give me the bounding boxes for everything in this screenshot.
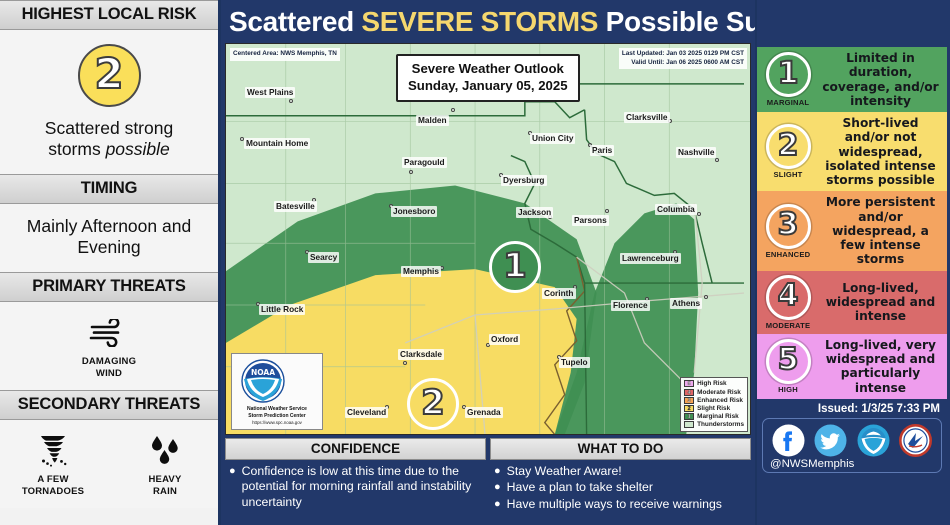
- city-label: Cleveland: [345, 407, 388, 418]
- risk-category-name: ENHANCED: [761, 250, 815, 259]
- risk-category-circle: 5: [766, 339, 811, 384]
- threat-label: DAMAGING WIND: [82, 356, 136, 380]
- risk-category-5: 5HIGHLong-lived, very widespread and par…: [757, 334, 947, 399]
- city-label: Batesville: [274, 201, 317, 212]
- wind-icon: [88, 314, 130, 352]
- risk-category-circle: 4: [766, 275, 811, 320]
- threat-damaging-wind: DAMAGING WIND: [66, 314, 152, 380]
- risk-category-name: SLIGHT: [761, 170, 815, 179]
- highest-risk-desc-line1: Scattered strong: [6, 118, 212, 139]
- city-dot: [289, 99, 293, 103]
- highest-risk-desc-line2: storms possible: [6, 139, 212, 160]
- city-label: Union City: [530, 133, 575, 144]
- raindrops-icon: [148, 432, 182, 470]
- city-dot: [697, 212, 701, 216]
- risk-category-badge: 5HIGH: [761, 339, 815, 394]
- risk-category-badge: 2SLIGHT: [761, 124, 815, 179]
- city-label: Little Rock: [259, 304, 305, 315]
- map-legend-swatch: 4: [684, 389, 694, 396]
- nws-icon[interactable]: [899, 424, 932, 457]
- risk-category-description: More persistent and/or widespread, a few…: [819, 195, 942, 266]
- city-label: Jackson: [516, 207, 553, 218]
- threat-label-line2: TORNADOES: [22, 486, 84, 498]
- threat-label-line1: A FEW: [22, 474, 84, 486]
- map-legend-label: Slight Risk: [697, 405, 730, 412]
- tornado-icon: [35, 432, 71, 470]
- highest-risk-circle-wrap: 2: [6, 34, 212, 107]
- city-dot: [451, 108, 455, 112]
- map-legend-swatch: 5: [684, 380, 694, 387]
- city-label: Florence: [611, 300, 650, 311]
- risk-category-description: Limited in duration, coverage, and/or in…: [819, 51, 942, 108]
- what-to-do-item: ●Have a plan to take shelter: [494, 480, 749, 495]
- risk-category-number: 2: [778, 131, 799, 161]
- timing-line1: Mainly Afternoon and: [10, 216, 208, 237]
- city-label: Tupelo: [559, 357, 590, 368]
- threat-label-line1: DAMAGING: [82, 356, 136, 368]
- bullet-icon: ●: [494, 464, 501, 479]
- bullet-icon: ●: [494, 497, 501, 512]
- confidence-header: CONFIDENCE: [225, 438, 486, 460]
- threat-label-line2: WIND: [82, 368, 136, 380]
- primary-threats-body: DAMAGING WIND: [0, 302, 218, 390]
- risk-category-stack: 1MARGINALLimited in duration, coverage, …: [757, 47, 947, 399]
- highest-risk-badge: 2: [78, 44, 141, 107]
- city-dot: [605, 209, 609, 213]
- noaa-seal-icon: NOAA: [235, 358, 291, 404]
- map-legend-swatch: 1: [684, 413, 694, 420]
- city-label: Clarksdale: [398, 349, 444, 360]
- risk-category-number: 1: [778, 59, 799, 89]
- map-valid-until: Valid Until: Jan 06 2025 0600 AM CST: [622, 59, 744, 68]
- timing-body: Mainly Afternoon and Evening: [0, 204, 218, 273]
- city-label: Jonesboro: [391, 206, 437, 217]
- risk-category-badge: 3ENHANCED: [761, 204, 815, 259]
- city-label: Paris: [590, 145, 614, 156]
- risk-category-3: 3ENHANCEDMore persistent and/or widespre…: [757, 191, 947, 270]
- what-to-do-panel: WHAT TO DO ●Stay Weather Aware!●Have a p…: [490, 438, 751, 521]
- bottom-panels: CONFIDENCE ●Confidence is low at this ti…: [221, 435, 755, 525]
- section-header-secondary-threats: SECONDARY THREATS: [0, 390, 218, 420]
- risk-category-description: Long-lived, widespread and intense: [819, 281, 942, 324]
- risk-category-name: HIGH: [761, 385, 815, 394]
- map-legend-row: Thunderstorms: [684, 421, 744, 429]
- highest-risk-description: Scattered strong storms possible: [6, 118, 212, 161]
- city-label: Parsons: [572, 215, 609, 226]
- what-to-do-item: ●Have multiple ways to receive warnings: [494, 497, 749, 512]
- threat-label-line2: RAIN: [148, 486, 181, 498]
- section-header-timing: TIMING: [0, 174, 218, 204]
- map-last-updated: Last Updated: Jan 03 2025 0129 PM CST: [622, 50, 744, 59]
- risk-category-panel: 1MARGINALLimited in duration, coverage, …: [755, 0, 947, 525]
- outlook-map[interactable]: Centered Area: NWS Memphis, TN Last Upda…: [225, 43, 751, 435]
- city-label: Memphis: [401, 266, 441, 277]
- map-legend-label: Enhanced Risk: [697, 397, 743, 404]
- svg-text:NOAA: NOAA: [251, 368, 275, 377]
- social-media-box: @NWSMemphis: [762, 418, 942, 473]
- risk-category-2: 2SLIGHTShort-lived and/or not widespread…: [757, 112, 947, 191]
- map-centered-area-label: Centered Area: NWS Memphis, TN: [230, 48, 340, 61]
- city-label: Lawrenceburg: [620, 253, 681, 264]
- bullet-icon: ●: [494, 480, 501, 495]
- city-dot: [409, 170, 413, 174]
- map-legend-label: Moderate Risk: [697, 389, 741, 396]
- risk-category-1: 1MARGINALLimited in duration, coverage, …: [757, 47, 947, 112]
- bullet-text: Have multiple ways to receive warnings: [507, 497, 722, 512]
- map-legend-row: 3Enhanced Risk: [684, 396, 744, 404]
- city-dot: [704, 295, 708, 299]
- city-label: Clarksville: [624, 112, 670, 123]
- city-label: West Plains: [245, 87, 295, 98]
- map-legend-swatch: 3: [684, 397, 694, 404]
- sidebar: HIGHEST LOCAL RISK 2 Scattered strong st…: [0, 0, 221, 525]
- confidence-panel: CONFIDENCE ●Confidence is low at this ti…: [225, 438, 486, 521]
- city-label: Grenada: [465, 407, 503, 418]
- noaa-url: https://www.spc.noaa.gov: [235, 420, 319, 426]
- threat-label: HEAVY RAIN: [148, 474, 181, 498]
- threat-a-few-tornadoes: A FEW TORNADOES: [10, 432, 96, 498]
- map-legend-label: Thunderstorms: [697, 421, 744, 428]
- map-outlook-title: Severe Weather Outlook Sunday, January 0…: [396, 54, 580, 102]
- risk-category-number: 3: [778, 210, 799, 240]
- what-to-do-item: ●Stay Weather Aware!: [494, 464, 749, 479]
- what-to-do-header: WHAT TO DO: [490, 438, 751, 460]
- noaa-line2: Storm Prediction Center: [235, 413, 319, 420]
- bullet-icon: ●: [229, 464, 236, 510]
- threat-label: A FEW TORNADOES: [22, 474, 84, 498]
- map-legend-row: 1Marginal Risk: [684, 413, 744, 421]
- map-legend-label: High Risk: [697, 380, 726, 387]
- noaa-logo-box: NOAA National Weather Service Storm Pred…: [231, 353, 323, 430]
- social-handle: @NWSMemphis: [767, 458, 937, 470]
- confidence-list: ●Confidence is low at this time due to t…: [225, 460, 486, 511]
- bullet-text: Have a plan to take shelter: [507, 480, 653, 495]
- map-legend-swatch: [684, 421, 694, 428]
- city-label: Athens: [670, 298, 702, 309]
- map-risk-badge-2: 2: [407, 378, 459, 430]
- title-highlight: SEVERE STORMS: [361, 6, 598, 37]
- what-to-do-list: ●Stay Weather Aware!●Have a plan to take…: [490, 460, 751, 513]
- confidence-item: ●Confidence is low at this time due to t…: [229, 464, 484, 510]
- noaa-icon[interactable]: [857, 424, 890, 457]
- secondary-threats-body: A FEW TORNADOES: [0, 420, 218, 508]
- risk-category-description: Short-lived and/or not widespread, isola…: [819, 116, 942, 187]
- risk-category-circle: 1: [766, 52, 811, 97]
- map-validity-label: Last Updated: Jan 03 2025 0129 PM CST Va…: [619, 48, 747, 69]
- risk-category-number: 5: [778, 345, 799, 375]
- threat-label-line1: HEAVY: [148, 474, 181, 486]
- right-panel-spacer: [757, 0, 947, 47]
- city-label: Mountain Home: [244, 138, 310, 149]
- city-label: Malden: [416, 115, 449, 126]
- map-risk-badge-number: 1: [503, 249, 527, 283]
- social-icon-row: [767, 424, 937, 457]
- city-label: Nashville: [676, 147, 716, 158]
- twitter-icon[interactable]: [814, 424, 847, 457]
- noaa-caption: National Weather Service Storm Predictio…: [235, 406, 319, 420]
- city-label: Columbia: [655, 204, 697, 215]
- risk-category-circle: 2: [766, 124, 811, 169]
- section-header-primary-threats: PRIMARY THREATS: [0, 272, 218, 302]
- threat-heavy-rain: HEAVY RAIN: [122, 432, 208, 498]
- bullet-text: Stay Weather Aware!: [507, 464, 622, 479]
- highest-local-risk-body: 2 Scattered strong storms possible: [0, 30, 218, 174]
- bullet-text: Confidence is low at this time due to th…: [242, 464, 484, 510]
- map-legend-row: 4Moderate Risk: [684, 388, 744, 396]
- section-header-highest-local-risk: HIGHEST LOCAL RISK: [0, 0, 218, 30]
- city-label: Corinth: [542, 288, 576, 299]
- map-legend-row: 5High Risk: [684, 380, 744, 388]
- timing-text: Mainly Afternoon and Evening: [6, 208, 212, 269]
- map-legend-swatch: 2: [684, 405, 694, 412]
- city-dot: [715, 158, 719, 162]
- facebook-icon[interactable]: [772, 424, 805, 457]
- issued-timestamp: Issued: 1/3/25 7:33 PM: [757, 399, 947, 418]
- title-bar: Scattered SEVERE STORMS Possible Sunday: [221, 0, 755, 43]
- primary-threat-row: DAMAGING WIND: [6, 306, 212, 386]
- city-label: Oxford: [489, 334, 520, 345]
- desc-plain: storms: [48, 139, 105, 159]
- map-legend-label: Marginal Risk: [697, 413, 739, 420]
- risk-category-name: MODERATE: [761, 321, 815, 330]
- risk-category-badge: 4MODERATE: [761, 275, 815, 330]
- map-legend-row: 2Slight Risk: [684, 404, 744, 412]
- desc-italic: possible: [106, 139, 170, 159]
- highest-risk-number: 2: [94, 53, 123, 95]
- map-outlook-title-line2: Sunday, January 05, 2025: [408, 78, 568, 95]
- title-part1: Scattered: [229, 6, 361, 37]
- map-legend: 5High Risk4Moderate Risk3Enhanced Risk2S…: [680, 377, 748, 432]
- map-risk-badge-number: 2: [421, 386, 445, 420]
- timing-line2: Evening: [10, 237, 208, 258]
- map-outlook-title-line1: Severe Weather Outlook: [408, 61, 568, 78]
- risk-category-name: MARGINAL: [761, 98, 815, 107]
- center-column: Scattered SEVERE STORMS Possible Sunday: [221, 0, 755, 525]
- secondary-threat-row: A FEW TORNADOES: [6, 424, 212, 504]
- city-label: Searcy: [308, 252, 339, 263]
- page-title: Scattered SEVERE STORMS Possible Sunday: [229, 6, 825, 38]
- weather-graphic: HIGHEST LOCAL RISK 2 Scattered strong st…: [0, 0, 950, 525]
- noaa-line1: National Weather Service: [235, 406, 319, 413]
- city-label: Dyersburg: [501, 175, 547, 186]
- risk-category-number: 4: [778, 281, 799, 311]
- risk-category-badge: 1MARGINAL: [761, 52, 815, 107]
- map-risk-badge-1: 1: [489, 241, 541, 293]
- risk-category-circle: 3: [766, 204, 811, 249]
- city-dot: [403, 361, 407, 365]
- risk-category-4: 4MODERATELong-lived, widespread and inte…: [757, 271, 947, 334]
- city-label: Paragould: [402, 157, 447, 168]
- risk-category-description: Long-lived, very widespread and particul…: [819, 338, 942, 395]
